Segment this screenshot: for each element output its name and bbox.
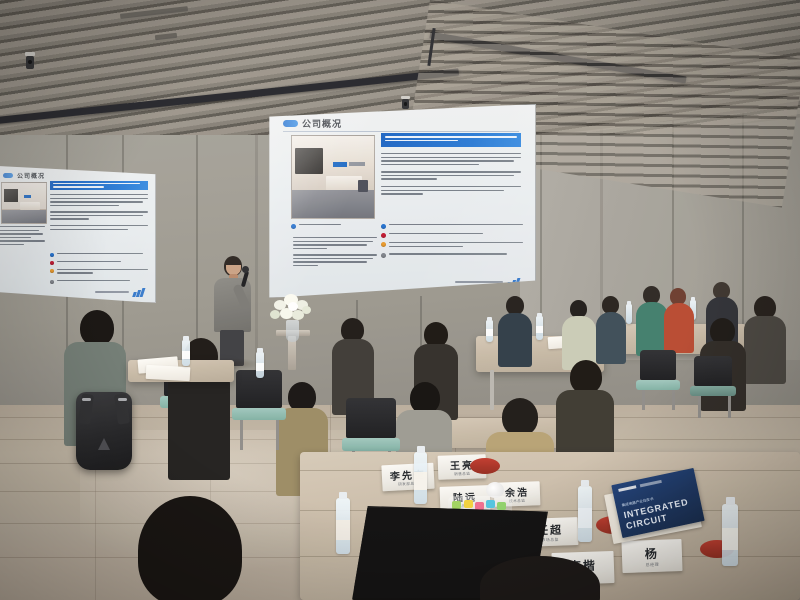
bullet-dot-red (381, 233, 386, 238)
company-logo-icon (133, 288, 147, 297)
attendee (596, 296, 626, 364)
slide-left-bullet (291, 223, 375, 232)
slide-title: 公司概况 (17, 171, 45, 180)
name-plate: 杨 总经理 (621, 539, 682, 573)
water-bottle (182, 340, 190, 366)
attendee (744, 296, 786, 382)
attendee (664, 288, 694, 352)
water-bottle (256, 352, 264, 378)
bullet-dot-orange (381, 242, 386, 247)
slide-right-text (50, 194, 148, 232)
bullet-dot-gray (381, 253, 386, 258)
slide-right-text (381, 153, 521, 197)
backpack (76, 392, 132, 470)
water-bottle (336, 498, 350, 554)
security-camera-icon (24, 52, 36, 74)
slide-accent-tab (283, 120, 298, 127)
water-bottle (578, 486, 592, 542)
slide-title: 公司概况 (302, 117, 342, 130)
flower-vase (286, 320, 299, 342)
secondary-projection-screen[interactable]: 公司概况 (0, 163, 156, 303)
slide-bullets (50, 252, 148, 287)
microphone-head-icon (242, 266, 249, 273)
bullet-dot-blue (291, 224, 296, 229)
document-sheet (146, 365, 191, 381)
water-bottle (486, 320, 493, 342)
slide-accent-tab (3, 173, 13, 178)
water-bottle (536, 316, 543, 340)
foreground-attendee (480, 556, 600, 600)
attendee (498, 296, 532, 366)
chair (690, 356, 736, 418)
chair (636, 350, 680, 410)
slide-bullet-item (381, 232, 523, 238)
slide-left-text (0, 226, 45, 247)
water-bottle (414, 452, 427, 504)
water-bottle (722, 504, 738, 566)
slide-footer (85, 288, 147, 296)
foreground-attendee (120, 496, 260, 600)
water-bottle (626, 304, 632, 324)
slide-bullet-item (381, 241, 523, 249)
slide-photo (291, 135, 375, 219)
slide-photo (1, 182, 47, 224)
red-coaster (470, 458, 500, 474)
slide-bullets (381, 223, 523, 261)
slide-bullet-item (381, 252, 523, 258)
bullet-dot-blue (381, 224, 386, 229)
slide-header-banner (381, 133, 521, 147)
main-projection-screen[interactable]: 公司概况 (268, 104, 536, 298)
slide-bullet-item (381, 223, 523, 229)
slide-header-banner (50, 181, 148, 190)
main-slide: 公司概况 (269, 105, 535, 297)
chair (232, 370, 286, 450)
secondary-slide: 公司概况 (0, 164, 155, 302)
slide-left-text (293, 237, 377, 269)
conference-room-photo: 公司概况 (0, 0, 800, 600)
